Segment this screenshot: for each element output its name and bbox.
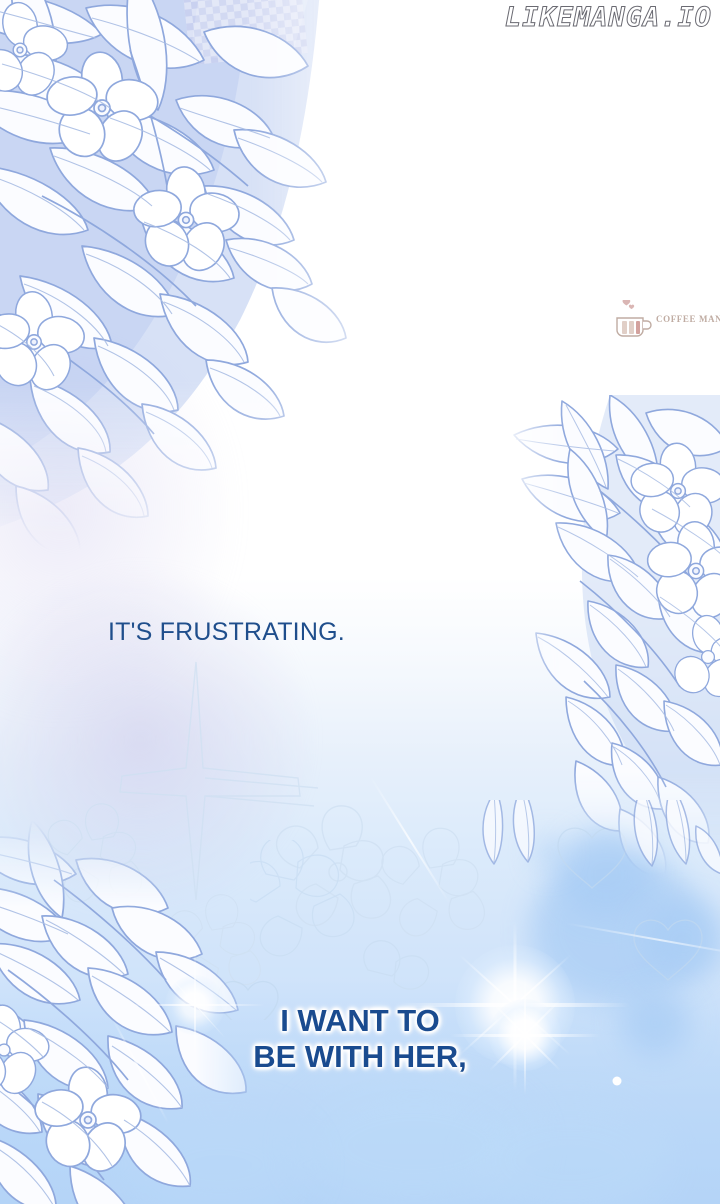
- coffeemanga-watermark: COFFEE MANGA: [611, 300, 720, 338]
- coffeemanga-label: COFFEE MANGA: [656, 314, 720, 324]
- dialogue-line-2a: I WANT TO: [0, 1003, 720, 1039]
- coffee-cup-icon: [611, 300, 653, 338]
- likemanga-watermark: LIKEMANGA.IO: [505, 2, 712, 33]
- comic-page: IT'S FRUSTRATING. I WANT TO BE WITH HER,…: [0, 0, 720, 1204]
- dialogue-line-1: IT'S FRUSTRATING.: [108, 618, 345, 647]
- foliage-top-left: [0, 0, 410, 550]
- dialogue-line-2b: BE WITH HER,: [0, 1039, 720, 1075]
- foliage-bottom-center-bits: [470, 800, 720, 920]
